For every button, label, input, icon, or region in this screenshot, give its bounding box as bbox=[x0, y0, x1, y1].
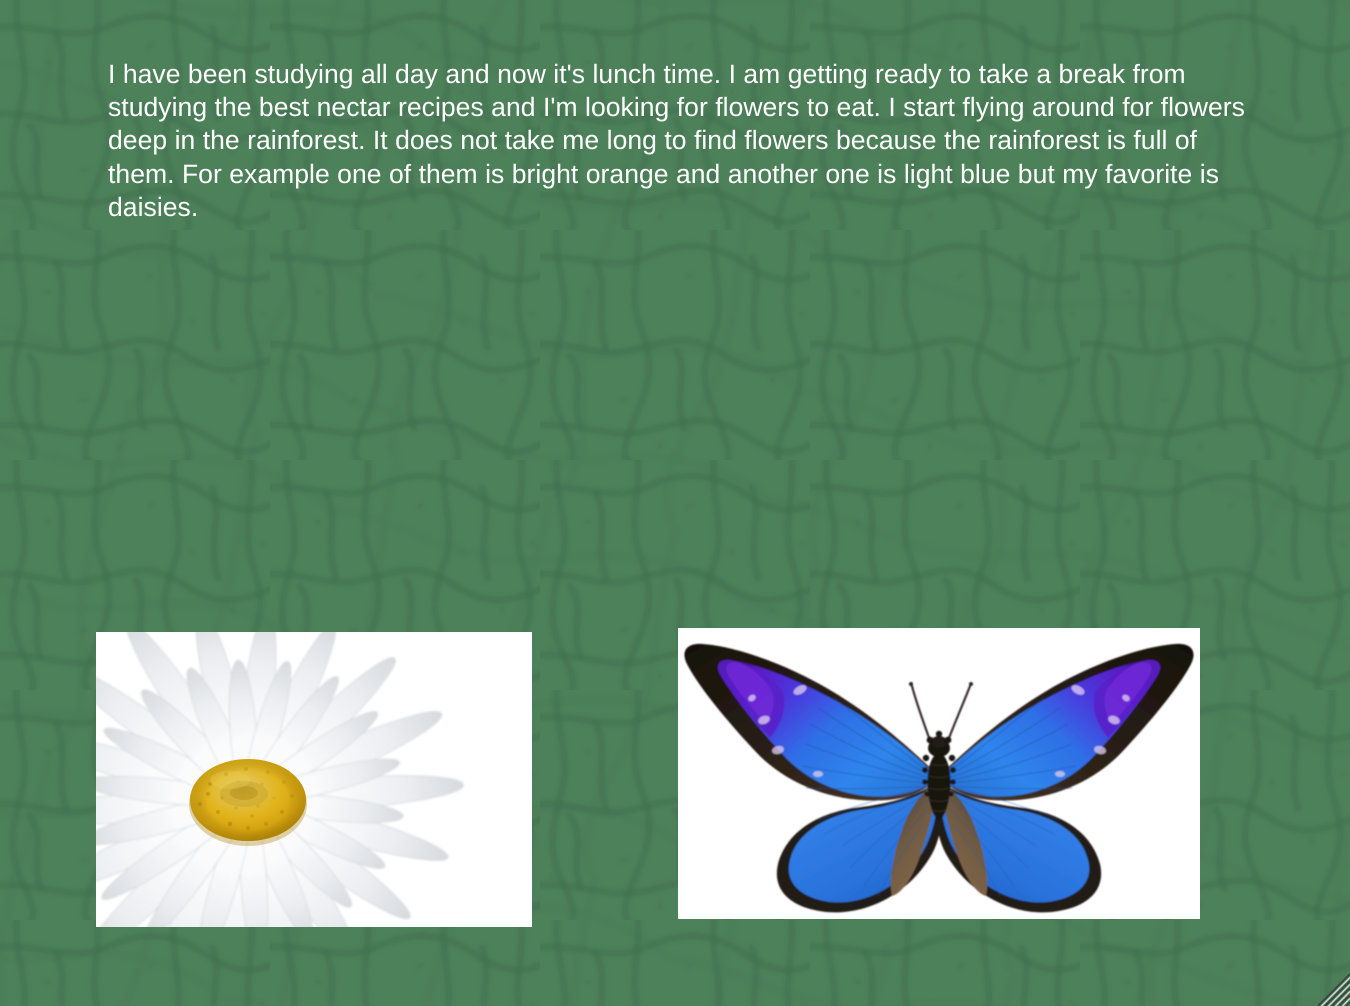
slide-body-text: I have been studying all day and now it'… bbox=[108, 58, 1260, 224]
presentation-slide: I have been studying all day and now it'… bbox=[0, 0, 1350, 1006]
butterfly-image[interactable] bbox=[678, 628, 1200, 919]
daisy-image[interactable] bbox=[96, 632, 532, 927]
resize-grip[interactable] bbox=[1308, 964, 1350, 1006]
